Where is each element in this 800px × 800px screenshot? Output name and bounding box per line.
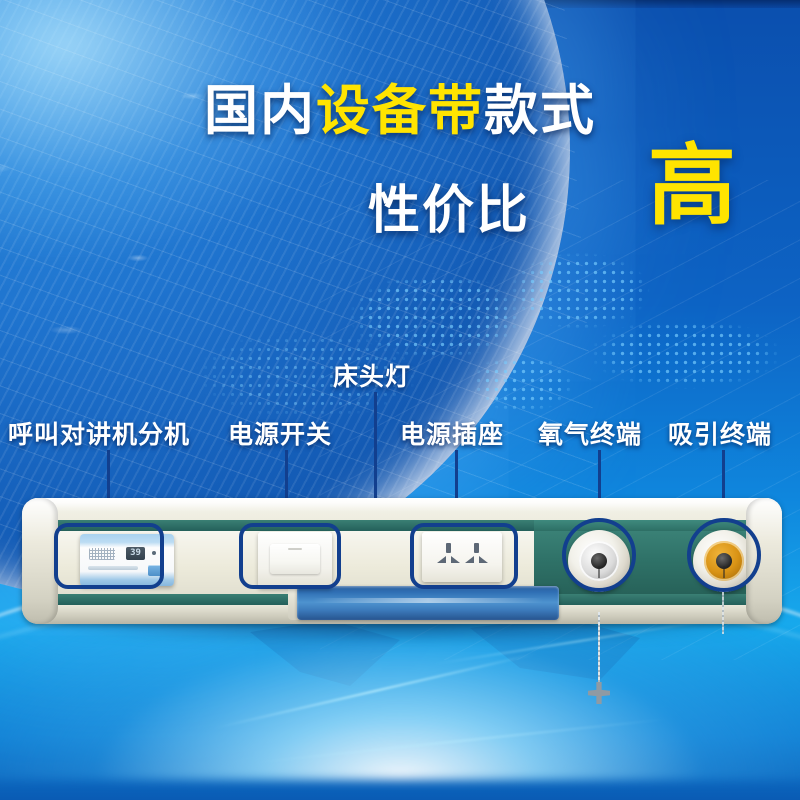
highlight-circle-suction xyxy=(687,518,761,592)
highlight-box-power-socket xyxy=(410,523,518,589)
callout-label-power-socket: 电源插座 xyxy=(400,415,504,451)
suction-pull-cord xyxy=(722,592,724,634)
headline-line-2: 性价比 xyxy=(368,168,530,243)
callout-label-suction-terminal: 吸引终端 xyxy=(668,415,772,451)
oxygen-pull-cord xyxy=(598,612,600,690)
panel-endcap-left xyxy=(22,498,58,624)
panel-top-highlight xyxy=(22,498,782,512)
callout-label-power-switch: 电源开关 xyxy=(228,415,332,451)
highlight-circle-oxygen xyxy=(562,518,636,592)
promo-banner: 国内设备带款式 性价比 高 呼叫对讲机分机 电源开关 床头灯 电源插座 氧气终端… xyxy=(0,0,800,800)
headline-line-3: 高 xyxy=(648,142,736,230)
highlight-box-intercom xyxy=(54,523,164,589)
callout-label-intercom: 呼叫对讲机分机 xyxy=(8,415,190,451)
highlight-box-power-switch xyxy=(239,523,341,589)
callout-label-bed-lamp: 床头灯 xyxy=(333,357,411,393)
bed-lamp-light-strip[interactable] xyxy=(297,586,559,620)
callout-label-oxygen-terminal: 氧气终端 xyxy=(538,415,642,451)
